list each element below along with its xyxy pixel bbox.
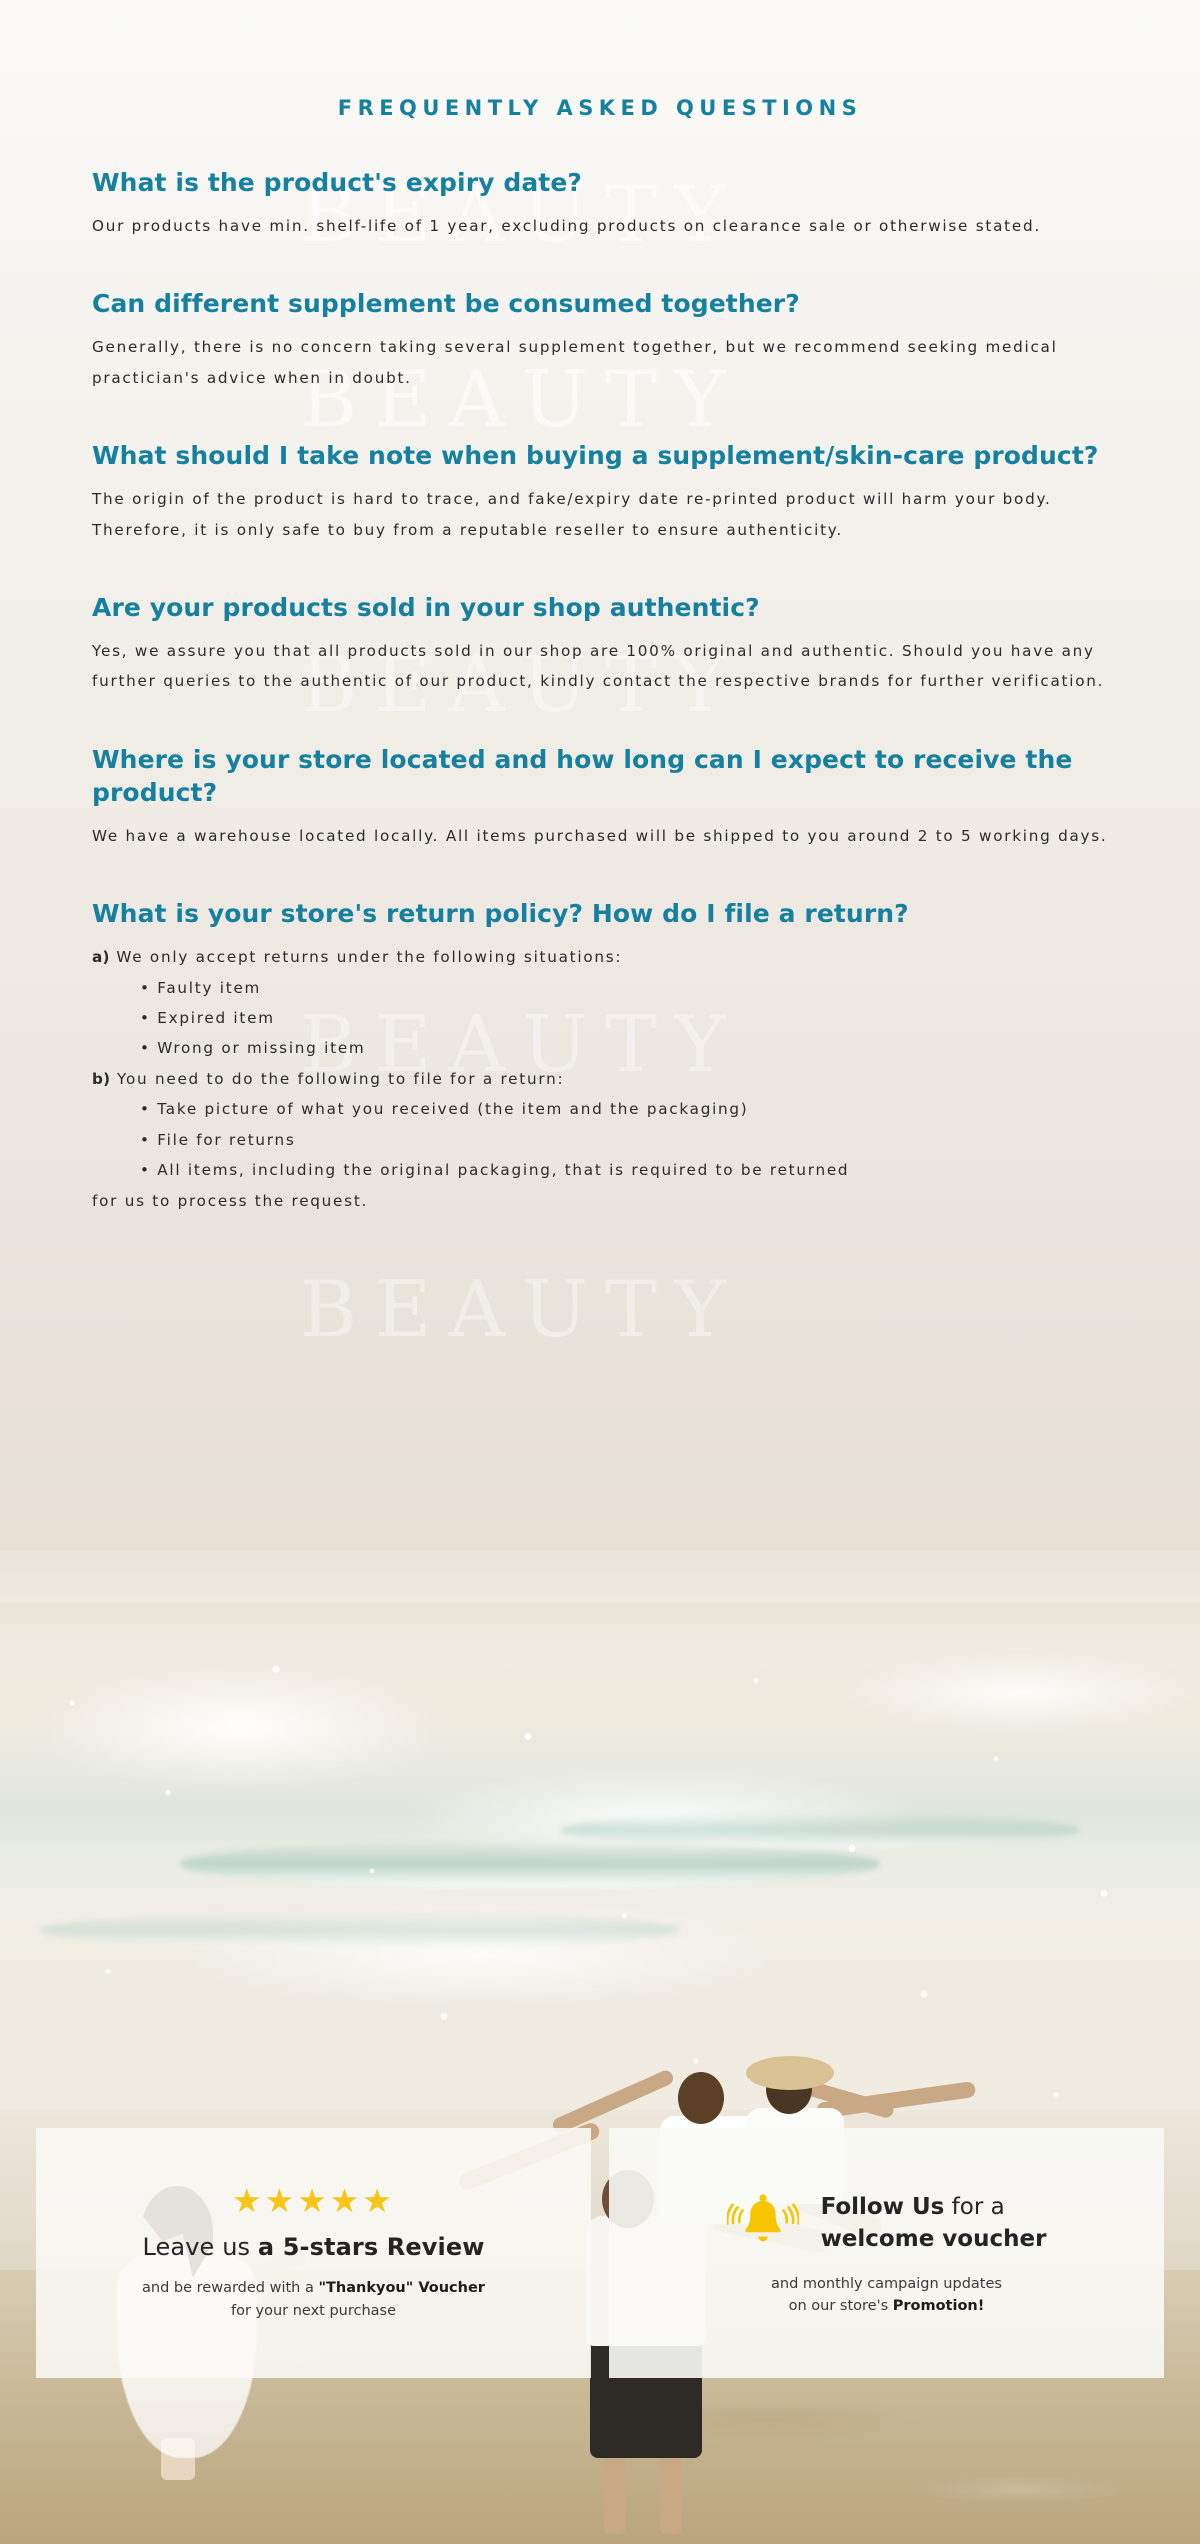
follow-sub-plain-2: on our store's — [789, 2298, 893, 2314]
follow-card-inner: Follow Us for a welcome voucher — [727, 2189, 1047, 2259]
returns-group-a: a) We only accept returns under the foll… — [92, 942, 1108, 972]
faq-question: Can different supplement be consumed tog… — [92, 287, 1108, 320]
returns-group-a-lead: We only accept returns under the followi… — [116, 948, 622, 966]
follow-sub-bold: Promotion! — [893, 2298, 985, 2314]
faq-item: Where is your store located and how long… — [92, 743, 1108, 851]
faq-landing-page: BEAUTY BEAUTY BEAUTY BEAUTY BEAUTY FREQU… — [0, 0, 1200, 2544]
faq-item: Are your products sold in your shop auth… — [92, 591, 1108, 697]
list-item: • File for returns — [92, 1125, 1108, 1155]
follow-card[interactable]: Follow Us for a welcome voucher and mont… — [609, 2128, 1164, 2378]
review-card[interactable]: ★★★★★ Leave us a 5-stars Review and be r… — [36, 2128, 591, 2378]
faq-section: FREQUENTLY ASKED QUESTIONS What is the p… — [0, 0, 1200, 1216]
faq-question: What is your store's return policy? How … — [92, 897, 1108, 930]
faq-answer: Our products have min. shelf-life of 1 y… — [92, 211, 1108, 241]
list-item: • Expired item — [92, 1003, 1108, 1033]
review-headline-bold: a 5-stars Review — [258, 2233, 485, 2261]
returns-tail: for us to process the request. — [92, 1186, 1108, 1216]
bell-icon — [727, 2189, 799, 2259]
mother-sun-hat — [746, 2056, 834, 2090]
faq-answer: Yes, we assure you that all products sol… — [92, 636, 1108, 697]
promo-cards: ★★★★★ Leave us a 5-stars Review and be r… — [0, 2128, 1200, 2378]
review-headline: Leave us a 5-stars Review — [142, 2231, 484, 2263]
child-head — [678, 2072, 724, 2124]
list-item: • Faulty item — [92, 973, 1108, 1003]
faq-question: What is the product's expiry date? — [92, 166, 1108, 199]
review-sub-plain-1: and be rewarded with a — [142, 2280, 318, 2296]
list-item: • All items, including the original pack… — [92, 1155, 1108, 1185]
faq-item-returns: What is your store's return policy? How … — [92, 897, 1108, 1216]
faq-item: Can different supplement be consumed tog… — [92, 287, 1108, 393]
list-marker-a: a) — [92, 948, 110, 966]
faq-item: What should I take note when buying a su… — [92, 439, 1108, 545]
child-left-arm — [551, 2068, 676, 2135]
faq-answer: Generally, there is no concern taking se… — [92, 332, 1108, 393]
beach-family-photo — [0, 1550, 1200, 2544]
review-headline-plain: Leave us — [142, 2233, 257, 2261]
father-left-leg — [604, 2448, 626, 2534]
faq-answer: The origin of the product is hard to tra… — [92, 484, 1108, 545]
follow-sub-plain-1: and monthly campaign updates — [771, 2276, 1002, 2292]
father-right-leg — [660, 2448, 682, 2534]
list-marker-b: b) — [92, 1070, 110, 1088]
returns-group-b: b) You need to do the following to file … — [92, 1064, 1108, 1094]
review-sub-plain-2: for your next purchase — [231, 2303, 396, 2319]
list-item: • Wrong or missing item — [92, 1033, 1108, 1063]
faq-item: What is the product's expiry date? Our p… — [92, 166, 1108, 241]
review-sub-bold: "Thankyou" Voucher — [318, 2280, 484, 2296]
follow-subtext: and monthly campaign updates on our stor… — [771, 2273, 1002, 2318]
follow-headline-bold-1: Follow Us — [821, 2194, 945, 2220]
five-stars-icon: ★★★★★ — [232, 2184, 395, 2217]
faq-question: Where is your store located and how long… — [92, 743, 1108, 809]
page-title: FREQUENTLY ASKED QUESTIONS — [92, 0, 1108, 120]
follow-headline-plain-1: for a — [944, 2194, 1004, 2220]
faq-question: What should I take note when buying a su… — [92, 439, 1108, 472]
review-subtext: and be rewarded with a "Thankyou" Vouche… — [142, 2277, 485, 2322]
faq-answer: We have a warehouse located locally. All… — [92, 821, 1108, 851]
list-item: • Take picture of what you received (the… — [92, 1094, 1108, 1124]
follow-headline: Follow Us for a welcome voucher — [821, 2192, 1047, 2254]
watermark-beauty: BEAUTY — [300, 1265, 743, 1355]
follow-headline-bold-2: welcome voucher — [821, 2226, 1047, 2252]
returns-group-b-lead: You need to do the following to file for… — [117, 1070, 564, 1088]
faq-question: Are your products sold in your shop auth… — [92, 591, 1108, 624]
